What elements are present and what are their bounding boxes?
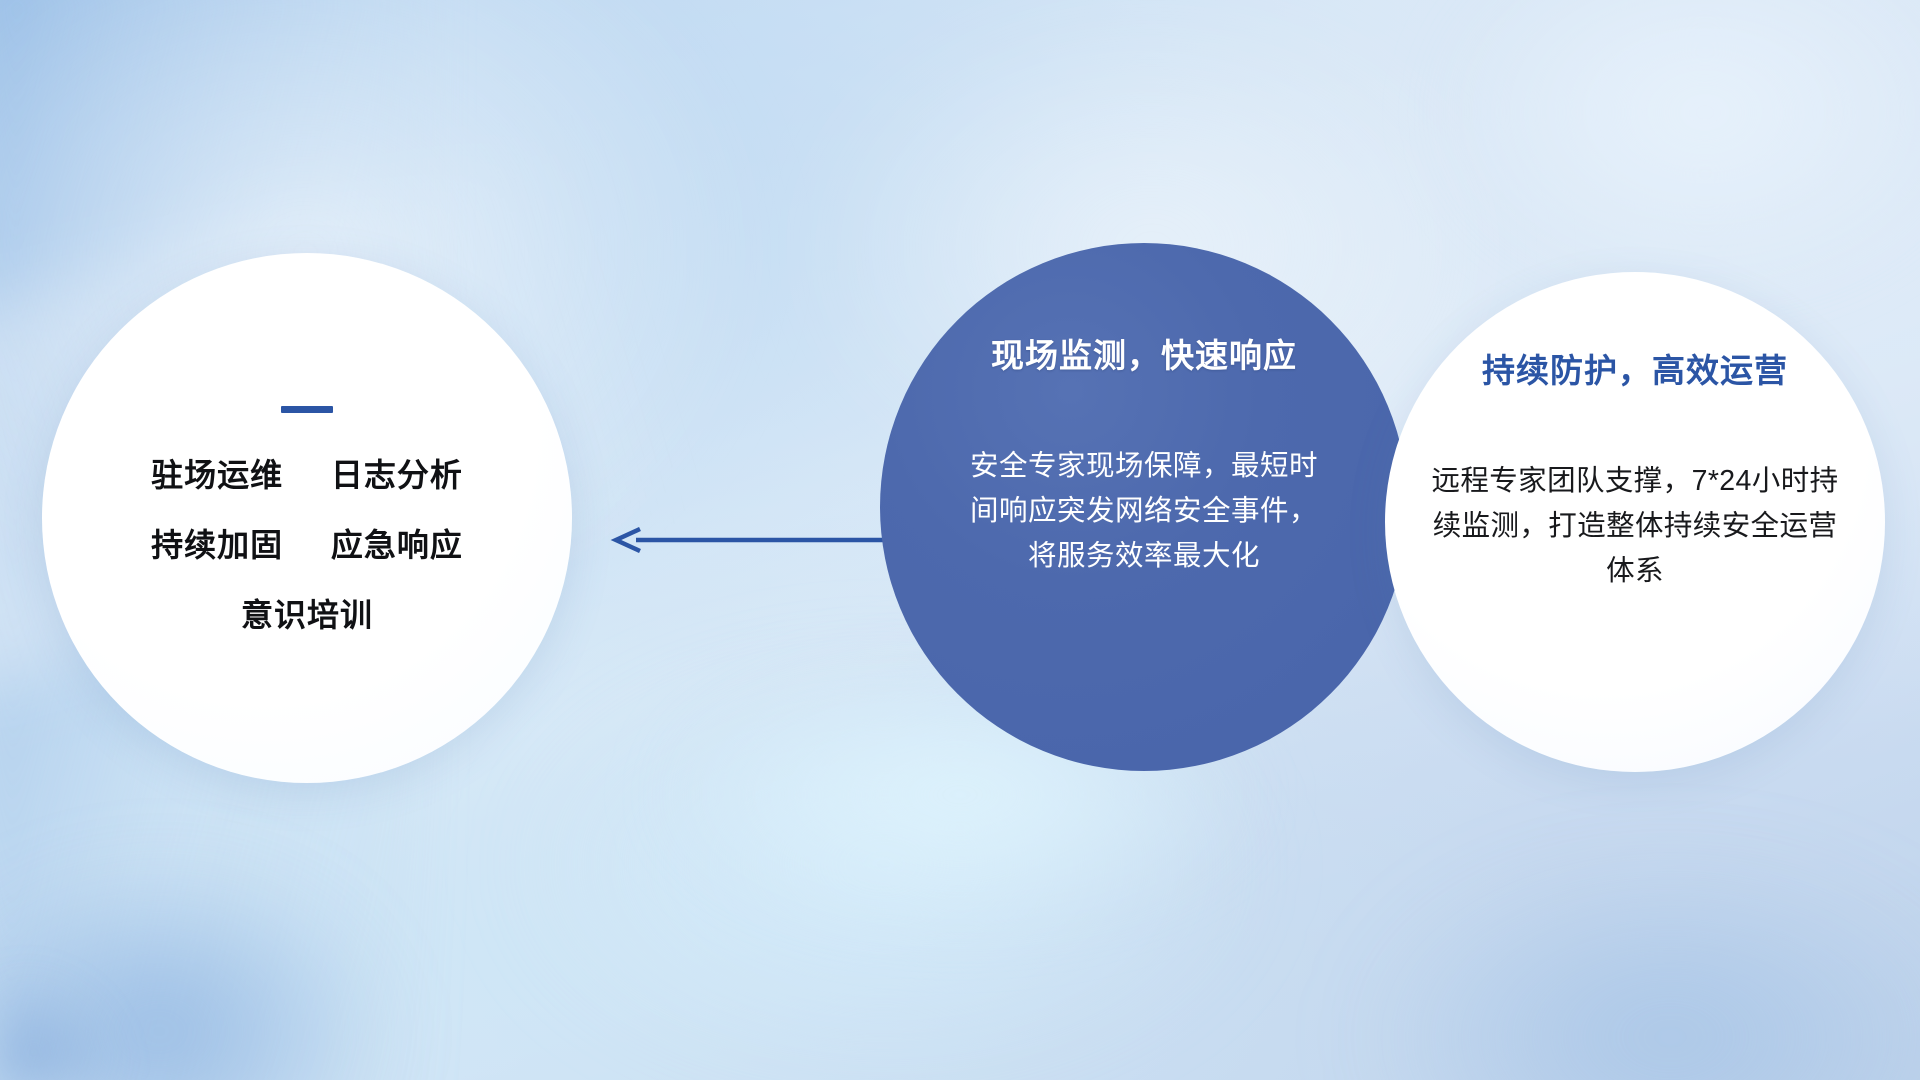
middle-circle-title: 现场监测，快速响应 [991, 339, 1297, 372]
left-circle-line-1-left: 驻场运维 [151, 457, 283, 493]
left-circle-line-2-left: 持续加固 [151, 527, 283, 563]
left-circle-line-3-single: 意识培训 [241, 597, 373, 633]
capability-circle-middle[interactable]: 现场监测，快速响应 安全专家现场保障，最短时间响应突发网络安全事件，将服务效率最… [880, 243, 1408, 771]
left-circle-line-3: 意识培训 [241, 599, 373, 631]
right-circle-body: 远程专家团队支撑，7*24小时持续监测，打造整体持续安全运营体系 [1421, 459, 1849, 594]
left-circle-line-2: 持续加固 应急响应 [151, 529, 463, 561]
left-circle-line-2-right: 应急响应 [331, 527, 463, 563]
middle-circle-body: 安全专家现场保障，最短时间响应突发网络安全事件，将服务效率最大化 [969, 444, 1319, 579]
arrow-left-icon [608, 527, 898, 553]
process-diagram: 驻场运维 日志分析 持续加固 应急响应 意识培训 现场监测，快速响应 安全专家现… [0, 0, 1920, 1080]
capability-circle-left[interactable]: 驻场运维 日志分析 持续加固 应急响应 意识培训 [42, 253, 572, 783]
left-circle-divider [281, 406, 333, 413]
left-circle-line-1-right: 日志分析 [331, 457, 463, 493]
capability-circle-right[interactable]: 持续防护，高效运营 远程专家团队支撑，7*24小时持续监测，打造整体持续安全运营… [1385, 272, 1885, 772]
left-circle-line-1: 驻场运维 日志分析 [151, 459, 463, 491]
right-circle-title: 持续防护，高效运营 [1482, 354, 1788, 387]
